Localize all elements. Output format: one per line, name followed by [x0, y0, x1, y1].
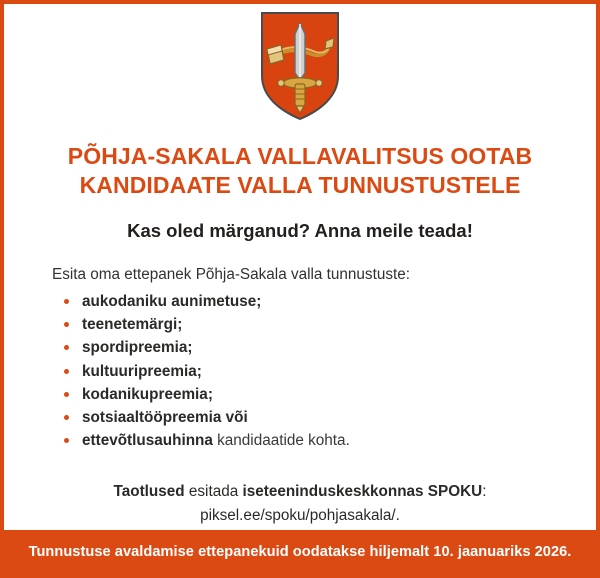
award-name: ettevõtlusauhinna [82, 432, 213, 449]
apply-mid: esitada [185, 483, 243, 500]
award-list: aukodaniku aunimetuse; teenetemärgi; spo… [52, 290, 596, 453]
list-item: spordipreemia; [52, 336, 596, 359]
award-name: aukodaniku aunimetuse; [82, 293, 261, 310]
award-name: sotsiaaltööpreemia või [82, 409, 248, 426]
award-name: kodanikupreemia; [82, 386, 213, 403]
page-title-line-2: KANDIDAATE VALLA TUNNUSTUSTELE [30, 171, 570, 200]
apply-service-name: iseteeninduskeskkonnas SPOKU [242, 483, 482, 500]
page-subtitle: Kas oled märganud? Anna meile teada! [4, 220, 596, 242]
list-item: ettevõtlusauhinna kandidaatide kohta. [52, 429, 596, 452]
coat-of-arms-icon [259, 10, 341, 122]
award-tail: kandidaatide kohta. [213, 432, 350, 449]
bullet-icon [64, 369, 69, 374]
list-item: sotsiaaltööpreemia või [52, 406, 596, 429]
body-block: Esita oma ettepanek Põhja-Sakala valla t… [4, 266, 596, 453]
page-title-line-1: PÕHJA-SAKALA VALLAVALITSUS OOTAB [30, 142, 570, 171]
bullet-icon [64, 392, 69, 397]
bullet-icon [64, 322, 69, 327]
list-item: kultuuripreemia; [52, 360, 596, 383]
bullet-icon [64, 299, 69, 304]
intro-text: Esita oma ettepanek Põhja-Sakala valla t… [52, 266, 596, 284]
apply-colon: : [482, 483, 486, 500]
announcement-poster: PÕHJA-SAKALA VALLAVALITSUS OOTAB KANDIDA… [0, 0, 600, 578]
bullet-icon [64, 438, 69, 443]
poster-content: PÕHJA-SAKALA VALLAVALITSUS OOTAB KANDIDA… [4, 4, 596, 530]
award-name: kultuuripreemia; [82, 363, 202, 380]
apply-instructions: Taotlused esitada iseteeninduskeskkonnas… [4, 480, 596, 528]
apply-keyword: Taotlused [114, 483, 185, 500]
page-title: PÕHJA-SAKALA VALLAVALITSUS OOTAB KANDIDA… [4, 142, 596, 201]
award-name: teenetemärgi; [82, 316, 182, 333]
bullet-icon [64, 345, 69, 350]
list-item: aukodaniku aunimetuse; [52, 290, 596, 313]
list-item: kodanikupreemia; [52, 383, 596, 406]
bullet-icon [64, 415, 69, 420]
award-name: spordipreemia; [82, 339, 193, 356]
deadline-banner: Tunnustuse avaldamise ettepanekuid oodat… [4, 530, 596, 574]
apply-url[interactable]: piksel.ee/spoku/pohjasakala/. [4, 504, 596, 528]
list-item: teenetemärgi; [52, 313, 596, 336]
emblem-container [4, 4, 596, 122]
